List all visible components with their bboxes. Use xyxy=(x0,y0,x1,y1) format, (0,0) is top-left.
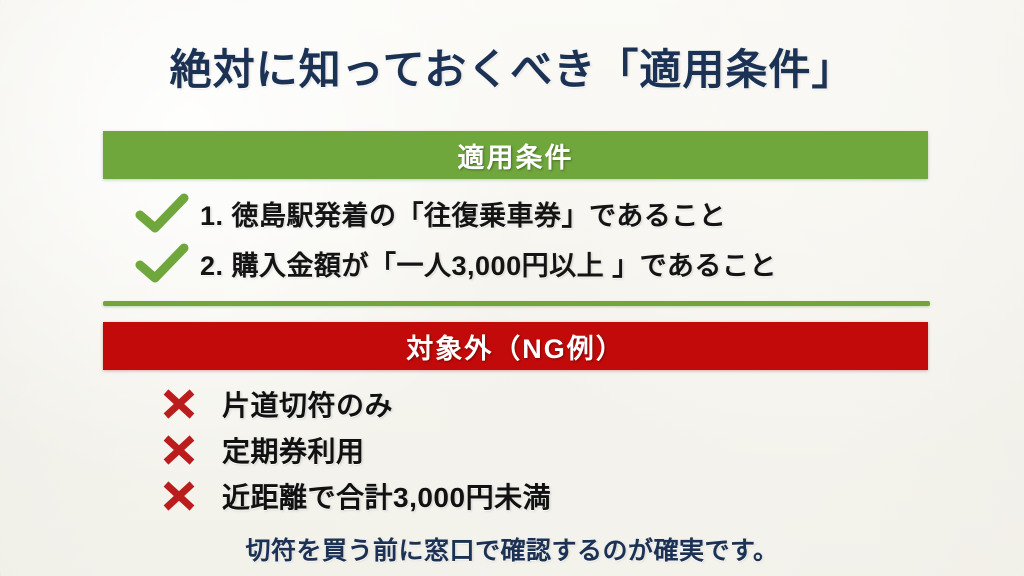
list-item: 1. 徳島駅発着の「往復乗車券」であること xyxy=(134,188,934,238)
red-cross-icon xyxy=(160,433,198,467)
applicable-conditions-list: 1. 徳島駅発着の「往復乗車券」であること 2. 購入金額が「一人3,000円以… xyxy=(134,188,934,288)
list-item-label: 近距離で合計3,000円未満 xyxy=(222,476,551,516)
list-item-label: 2. 購入金額が「一人3,000円以上 」であること xyxy=(200,244,777,283)
section-header-excluded-cases: 対象外（NG例） xyxy=(103,322,928,370)
slide-canvas: 絶対に知っておくべき「適用条件」 適用条件 1. 徳島駅発着の「往復乗車券」であ… xyxy=(0,0,1024,576)
excluded-cases-list: 片道切符のみ 定期券利用 近距離で合計3,000円未満 xyxy=(160,381,960,519)
section-header-applicable-conditions: 適用条件 xyxy=(103,131,928,179)
section-divider xyxy=(103,301,930,306)
list-item-label: 1. 徳島駅発着の「往復乗車券」であること xyxy=(200,194,726,233)
list-item: 定期券利用 xyxy=(160,427,960,473)
green-check-icon xyxy=(134,242,190,284)
red-cross-icon xyxy=(160,387,198,421)
list-item: 2. 購入金額が「一人3,000円以上 」であること xyxy=(134,238,934,288)
red-cross-icon xyxy=(160,479,198,513)
list-item: 近距離で合計3,000円未満 xyxy=(160,473,960,519)
page-title: 絶対に知っておくべき「適用条件」 xyxy=(0,36,1024,97)
section-header-label-ok: 適用条件 xyxy=(458,136,574,175)
footer-note: 切符を買う前に窓口で確認するのが確実です。 xyxy=(0,531,1024,567)
section-header-label-ng: 対象外（NG例） xyxy=(406,327,625,366)
list-item: 片道切符のみ xyxy=(160,381,960,427)
list-item-label: 定期券利用 xyxy=(222,430,365,470)
list-item-label: 片道切符のみ xyxy=(222,384,393,424)
green-check-icon xyxy=(134,192,190,234)
